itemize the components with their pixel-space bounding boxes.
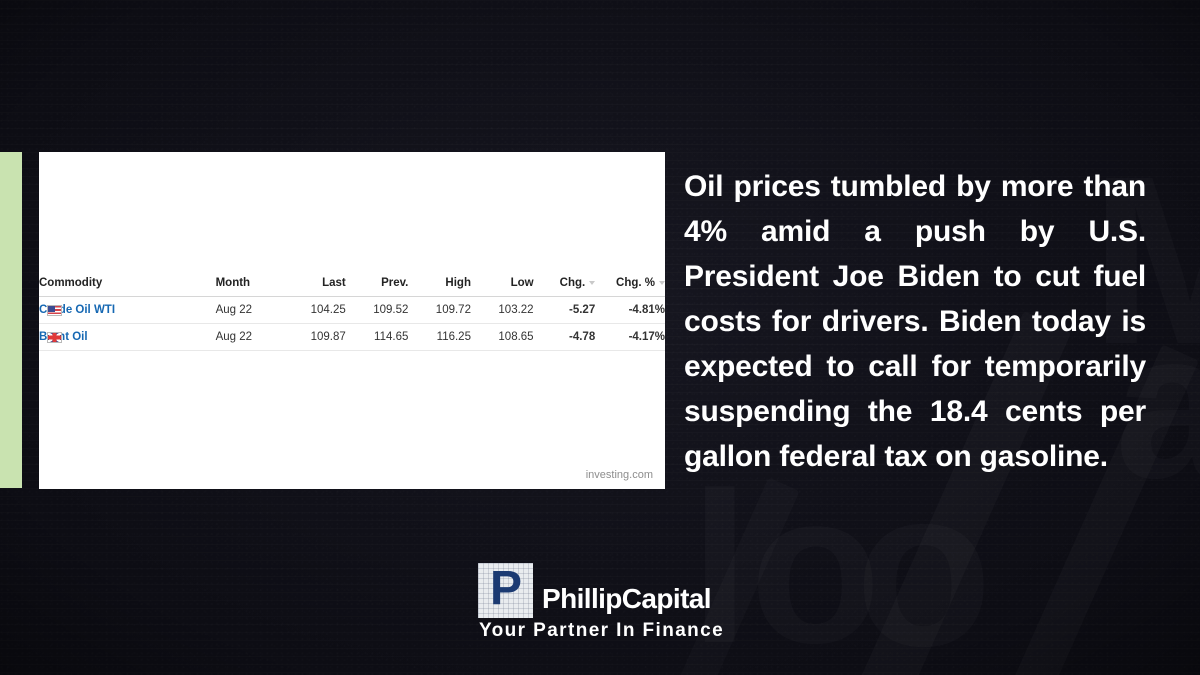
table-body: Crude Oil WTI Aug 22 104.25 109.52 109.7… (39, 297, 665, 351)
column-header-low-label: Low (511, 277, 534, 289)
logo-p-mark-icon: P (478, 563, 533, 618)
column-header-month-label: Month (216, 277, 250, 289)
quotes-card: Commodity Month Last Prev. High Low Chg.… (39, 152, 665, 489)
column-header-change-percent[interactable]: Chg. % (595, 277, 665, 297)
table-header: Commodity Month Last Prev. High Low Chg.… (39, 277, 665, 297)
logo-mark-letter: P (490, 565, 521, 613)
background-ghost-letter: o (855, 455, 992, 675)
column-header-high[interactable]: High (408, 277, 471, 297)
cell-change: -5.27 (534, 297, 596, 324)
cell-prev: 109.52 (346, 297, 409, 324)
quotes-table-wrapper: Commodity Month Last Prev. High Low Chg.… (39, 277, 665, 351)
logo-wordmark: PhillipCapital (542, 583, 711, 615)
cell-high: 109.72 (408, 297, 471, 324)
cell-month: Aug 22 (216, 297, 284, 324)
column-header-commodity[interactable]: Commodity (39, 277, 216, 297)
column-header-commodity-label: Commodity (39, 277, 102, 289)
cell-low: 103.22 (471, 297, 534, 324)
cell-last: 109.87 (283, 324, 346, 351)
column-header-change-percent-label: Chg. % (616, 277, 655, 289)
table-row[interactable]: Crude Oil WTI Aug 22 104.25 109.52 109.7… (39, 297, 665, 324)
table-row[interactable]: Brent Oil Aug 22 109.87 114.65 116.25 10… (39, 324, 665, 351)
column-header-low[interactable]: Low (471, 277, 534, 297)
column-header-month[interactable]: Month (216, 277, 284, 297)
table-header-row: Commodity Month Last Prev. High Low Chg.… (39, 277, 665, 297)
column-header-last-label: Last (322, 277, 346, 289)
cell-change-percent: -4.17% (595, 324, 665, 351)
cell-commodity: Crude Oil WTI (39, 297, 216, 324)
slide-canvas: M a lo o Commodity Month Last Prev. High… (0, 0, 1200, 675)
cell-last: 104.25 (283, 297, 346, 324)
column-header-change-label: Chg. (560, 277, 586, 289)
gb-flag-icon (47, 332, 62, 343)
column-header-last[interactable]: Last (283, 277, 346, 297)
column-header-prev[interactable]: Prev. (346, 277, 409, 297)
logo-tagline: Your Partner In Finance (479, 620, 724, 642)
sort-caret-icon[interactable] (659, 281, 665, 285)
cell-change: -4.78 (534, 324, 596, 351)
green-accent-bar (0, 152, 22, 488)
phillipcapital-logo: P PhillipCapital Your Partner In Finance (478, 563, 732, 645)
sort-caret-icon[interactable] (589, 281, 595, 285)
us-flag-icon (47, 305, 62, 316)
commodities-table: Commodity Month Last Prev. High Low Chg.… (39, 277, 665, 351)
source-credit: investing.com (586, 469, 653, 481)
headline-paragraph: Oil prices tumbled by more than 4% amid … (684, 164, 1146, 479)
cell-change-percent: -4.81% (595, 297, 665, 324)
column-header-high-label: High (445, 277, 471, 289)
cell-prev: 114.65 (346, 324, 409, 351)
cell-commodity: Brent Oil (39, 324, 216, 351)
cell-high: 116.25 (408, 324, 471, 351)
column-header-change[interactable]: Chg. (534, 277, 596, 297)
logo-primary-row: P PhillipCapital (478, 563, 711, 618)
cell-month: Aug 22 (216, 324, 284, 351)
column-header-prev-label: Prev. (381, 277, 408, 289)
cell-low: 108.65 (471, 324, 534, 351)
